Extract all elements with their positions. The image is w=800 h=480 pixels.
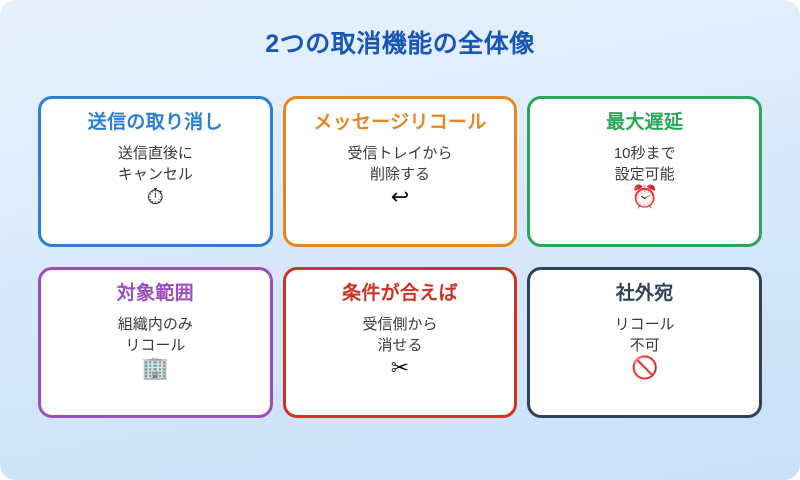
card-title: 社外宛 <box>616 283 674 305</box>
card-title: 条件が合えば <box>342 283 458 305</box>
card-title: メッセージリコール <box>313 112 486 134</box>
card-description: リコール 不可 <box>615 314 675 357</box>
card-description: 送信直後に キャンセル <box>118 143 193 186</box>
card-description: 組織内のみ リコール <box>118 314 193 357</box>
prohibited-icon: 🚫 <box>631 358 658 380</box>
stopwatch-icon: ⏱ <box>147 187 164 209</box>
card-scope: 対象範囲 組織内のみ リコール 🏢 <box>38 267 273 418</box>
card-soushin-no-torikeshi: 送信の取り消し 送信直後に キャンセル ⏱ <box>38 96 273 247</box>
infographic-canvas: 2つの取消機能の全体像 送信の取り消し 送信直後に キャンセル ⏱ メッセージリ… <box>0 0 800 480</box>
card-description: 10秒まで 設定可能 <box>614 143 676 186</box>
alarm-clock-icon: ⏰ <box>631 187 658 209</box>
card-message-recall: メッセージリコール 受信トレイから 削除する ↩ <box>283 96 518 247</box>
card-max-delay: 最大遅延 10秒まで 設定可能 ⏰ <box>527 96 762 247</box>
scissors-icon: ✂ <box>391 358 409 380</box>
card-external-recipient: 社外宛 リコール 不可 🚫 <box>527 267 762 418</box>
page-title: 2つの取消機能の全体像 <box>0 24 800 60</box>
card-title: 送信の取り消し <box>88 112 223 134</box>
office-building-icon: 🏢 <box>142 358 169 380</box>
card-title: 最大遅延 <box>606 112 683 134</box>
card-description: 受信トレイから 削除する <box>347 143 452 186</box>
card-conditions: 条件が合えば 受信側から 消せる ✂ <box>283 267 518 418</box>
undo-arrow-icon: ↩ <box>391 187 409 209</box>
card-description: 受信側から 消せる <box>362 314 437 357</box>
card-title: 対象範囲 <box>117 283 194 305</box>
card-grid: 送信の取り消し 送信直後に キャンセル ⏱ メッセージリコール 受信トレイから … <box>38 96 762 418</box>
